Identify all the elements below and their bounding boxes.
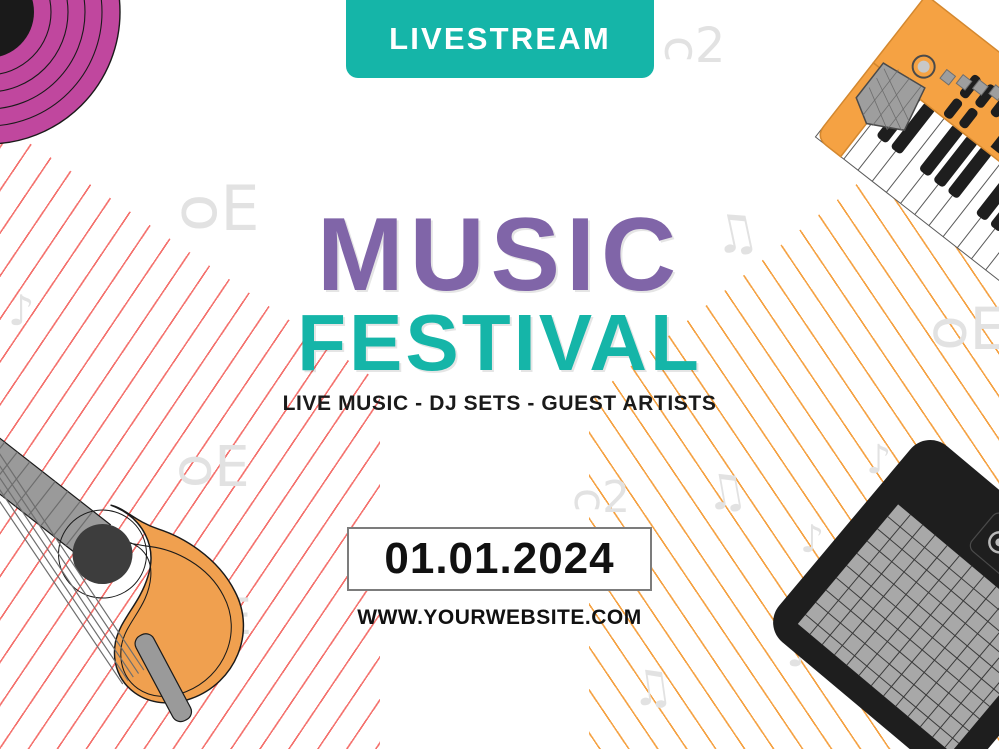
bass-clef-center-lower-icon: ᴒ2 <box>572 476 630 520</box>
title-music: MUSIC <box>0 206 999 306</box>
vinyl-record <box>0 0 148 177</box>
acoustic-guitar <box>0 380 310 749</box>
title-festival: FESTIVAL <box>0 302 999 384</box>
livestream-banner[interactable]: LIVESTREAM <box>346 0 654 78</box>
bass-clef-top-center-icon: ᴒ2 <box>662 22 725 70</box>
guitar-amplifier <box>770 440 999 749</box>
beamed-notes-right-mid-icon: ♫ <box>700 465 751 520</box>
tagline: LIVE MUSIC - DJ SETS - GUEST ARTISTS <box>0 392 999 416</box>
event-date: 01.01.2024 <box>384 534 614 584</box>
headline-block: MUSIC FESTIVAL LIVE MUSIC - DJ SETS - GU… <box>0 206 999 416</box>
livestream-label: LIVESTREAM <box>389 21 611 57</box>
music-festival-poster: ᴑEᴒ2♫♪ᴑEᴑEᴒ2♫♪♫♪ᴑE♪ <box>0 0 999 749</box>
website-url[interactable]: WWW.YOURWEBSITE.COM <box>0 606 999 630</box>
beamed-notes-bottom-icon: ♫ <box>627 661 676 715</box>
event-date-box: 01.01.2024 <box>347 527 652 591</box>
